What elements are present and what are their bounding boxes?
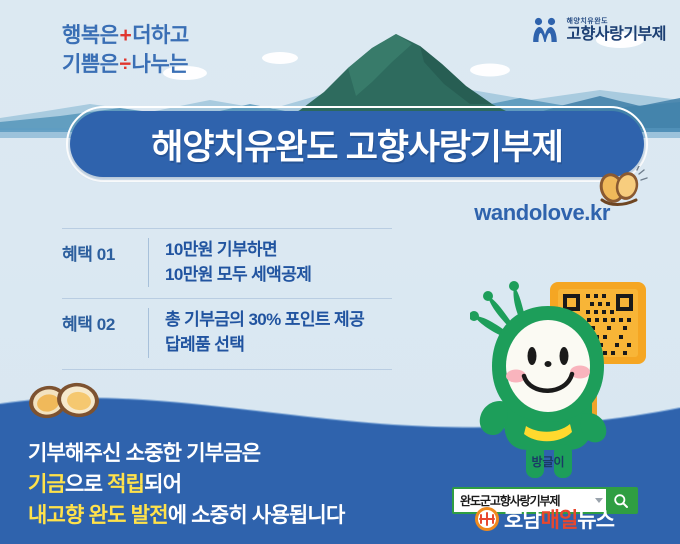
search-icon xyxy=(613,493,629,509)
benefits-list: 혜택 01 10만원 기부하면 10만원 모두 세액공제 혜택 02 총 기부금… xyxy=(62,228,392,370)
benefit-line: 답례품 선택 xyxy=(165,333,392,358)
brand-logo: 해양치유완도 고향사랑기부제 xyxy=(530,16,666,44)
brand-title: 고향사랑기부제 xyxy=(566,27,666,43)
benefit-label: 혜택 02 xyxy=(62,308,148,335)
slogan-line-2: 기쁨은÷나누는 xyxy=(62,53,189,78)
slogan-line2-b: 나누는 xyxy=(132,53,188,76)
brand-text-block: 해양치유완도 고향사랑기부제 xyxy=(566,18,666,43)
bottom-message-line-3: 내고향 완도 발전에 소중히 사용됩니다 xyxy=(28,502,344,530)
cloud-icon xyxy=(262,52,298,64)
highlight-hometown: 내고향 완도 발전 xyxy=(28,504,168,527)
benefit-content: 총 기부금의 30% 포인트 제공 답례품 선택 xyxy=(165,308,392,357)
title-banner-fill: 해양치유완도 고향사랑기부제 xyxy=(70,111,644,177)
mascot-eye xyxy=(560,347,569,365)
watermark-text-a: 호남 xyxy=(504,509,541,532)
benefit-label: 혜택 01 xyxy=(62,238,148,265)
highlight-accumulate: 적립 xyxy=(107,473,144,496)
people-m-logo-icon xyxy=(530,16,560,44)
benefit-line: 10만원 모두 세액공제 xyxy=(165,263,392,288)
slogan-line2-a: 기쁨은 xyxy=(62,53,118,76)
bottom-line3-tail: 에 소중히 사용됩니다 xyxy=(168,504,345,527)
bottom-line2-mid: 으로 xyxy=(65,473,107,496)
bottom-message-block: 기부해주신 소중한 기부금은 기금으로 적립되어 내고향 완도 발전에 소중히 … xyxy=(28,440,344,533)
mascot-name-label: 방글이 xyxy=(531,454,564,469)
page-title: 해양치유완도 고향사랑기부제 xyxy=(151,119,563,170)
slogan-line-1: 행복은+더하고 xyxy=(62,24,189,49)
watermark-text-b: 매일 xyxy=(541,509,578,532)
bottom-line2-tail: 되어 xyxy=(144,473,181,496)
abalone-icon xyxy=(22,378,106,426)
highlight-fund: 기금 xyxy=(28,473,65,496)
poster-canvas: 행복은+더하고 기쁨은÷나누는 해양치유완도 고향사랑기부제 해양치유완도 고향… xyxy=(0,0,680,544)
honam-news-badge-icon xyxy=(474,506,500,532)
main-title-banner: 해양치유완도 고향사랑기부제 xyxy=(66,106,648,182)
bottom-message-line-2: 기금으로 적립되어 xyxy=(28,471,344,499)
watermark-text-c: 뉴스 xyxy=(577,509,614,532)
bottom-message-line-1: 기부해주신 소중한 기부금은 xyxy=(28,440,344,468)
mascot-eye xyxy=(528,347,537,365)
wando-mascot-icon: 방글이 xyxy=(470,272,670,482)
benefit-divider xyxy=(148,238,149,287)
slogan-line1-a: 행복은 xyxy=(62,24,118,47)
divide-operator-icon: ÷ xyxy=(118,53,131,76)
mascot-arm-left xyxy=(480,401,508,435)
benefit-line: 총 기부금의 30% 포인트 제공 xyxy=(165,308,392,333)
benefit-row: 혜택 02 총 기부금의 30% 포인트 제공 답례품 선택 xyxy=(62,299,392,369)
watermark-text: 호남매일뉴스 xyxy=(504,504,614,534)
caret-triangle xyxy=(595,498,603,503)
news-watermark: 호남매일뉴스 xyxy=(474,504,614,534)
benefit-content: 10만원 기부하면 10만원 모두 세액공제 xyxy=(165,238,392,287)
benefit-row: 혜택 01 10만원 기부하면 10만원 모두 세액공제 xyxy=(62,228,392,299)
brand-subtitle: 해양치유완도 xyxy=(566,18,608,25)
cloud-icon xyxy=(470,64,510,77)
slogan-block: 행복은+더하고 기쁨은÷나누는 xyxy=(62,24,189,82)
plus-operator-icon: + xyxy=(118,24,132,47)
website-url[interactable]: wandolove.kr xyxy=(474,200,610,226)
slogan-line1-b: 더하고 xyxy=(132,24,188,47)
benefit-line: 10만원 기부하면 xyxy=(165,238,392,263)
benefit-divider xyxy=(148,308,149,357)
mascot-nose xyxy=(545,361,552,367)
